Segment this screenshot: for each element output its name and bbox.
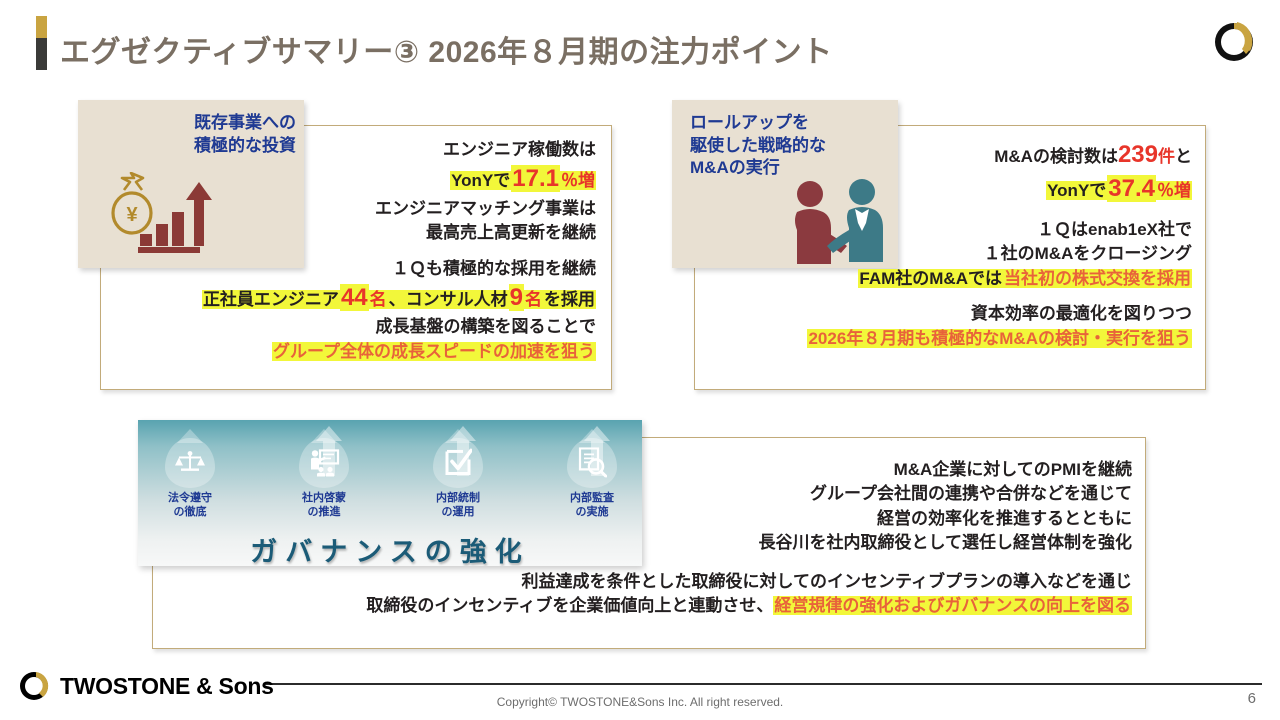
text-run: １Ｑも積極的な採用を継続 [392, 259, 596, 278]
text-line: 経営の効率化を推進するとともに [660, 507, 1132, 531]
text-run: 資本効率の最適化を図りつつ [971, 304, 1192, 323]
governance-right-text: M&A企業に対してのPMIを継続グループ会社間の連携や合併などを通じて経営の効率… [660, 458, 1132, 555]
text-run: と [1175, 147, 1192, 166]
text-line: １社のM&Aをクロージング [736, 242, 1192, 266]
text-run: 最高売上高更新を継続 [426, 223, 596, 242]
pillar-label-2: 内部統制 の運用 [413, 492, 503, 520]
pillar-label-1: 社内啓蒙 の推進 [279, 492, 369, 520]
text-line: 長谷川を社内取締役として選任し経営体制を強化 [660, 531, 1132, 555]
governance-headline: ガバナンスの強化 [138, 530, 642, 566]
text-run: 経営の効率化を推進するとともに [877, 509, 1132, 528]
ma-execution-text: M&Aの検討数は239件とYonYで37.4％増 １Ｑはenab1eX社で１社の… [736, 138, 1192, 351]
text-run: M&A企業に対してのPMIを継続 [894, 460, 1132, 479]
text-run: 17.1 [511, 165, 560, 192]
text-run: 経営規律の強化およびガバナンスの向上を図る [773, 596, 1132, 615]
text-line: FAM社のM&Aでは当社初の株式交換を採用 [736, 267, 1192, 291]
text-run: ％増 [560, 171, 596, 190]
text-line: M&A企業に対してのPMIを継続 [660, 458, 1132, 482]
governance-bottom-text: 利益達成を条件とした取締役に対してのインセンティブプランの導入などを通じ取締役の… [180, 570, 1132, 619]
text-run: 当社初の株式交換を採用 [1003, 269, 1192, 288]
text-line: M&Aの検討数は239件と [736, 138, 1192, 172]
text-run: を採用 [543, 290, 596, 309]
text-run: 長谷川を社内取締役として選任し経営体制を強化 [759, 533, 1133, 552]
text-line: グループ全体の成長スピードの加速を狙う [140, 340, 596, 364]
pillar-label-3: 内部監査 の実施 [547, 492, 637, 520]
text-line: 資本効率の最適化を図りつつ [736, 302, 1192, 326]
text-run: １Ｑはenab1eX社で [1037, 220, 1192, 239]
text-line: １Ｑはenab1eX社で [736, 218, 1192, 242]
text-run: ％増 [1156, 181, 1192, 200]
text-run: 44 [340, 284, 369, 311]
text-run: エンジニア稼働数は [443, 140, 596, 159]
text-run: グループ全体の成長スピードの加速を狙う [272, 342, 596, 361]
up-arrow-icon-2 [584, 426, 610, 476]
text-run: 利益達成を条件とした取締役に対してのインセンティブプランの導入などを通じ [522, 572, 1132, 591]
text-line: 成長基盤の構築を図ることで [140, 315, 596, 339]
svg-text:¥: ¥ [126, 204, 138, 226]
title-accent-gold [36, 16, 47, 38]
text-line: 最高売上高更新を継続 [140, 221, 596, 245]
text-run: FAM社のM&Aでは [858, 269, 1003, 288]
text-run: グループ会社間の連携や合併などを通じて [810, 484, 1132, 503]
text-run: 取締役のインセンティブを企業価値向上と連動させ、 [366, 596, 773, 615]
text-line: グループ会社間の連携や合併などを通じて [660, 482, 1132, 506]
text-run: YonYで [450, 171, 511, 190]
text-line: 正社員エンジニア44名、コンサル人材9名を採用 [140, 281, 596, 315]
footer-divider [265, 683, 1262, 685]
pillar-label-0: 法令遵守 の徹底 [145, 492, 235, 520]
governance-panel: 法令遵守 の徹底 社内啓蒙 の推進 内部統制 の運用 内部監査 の実施 ガバナン… [138, 420, 642, 566]
twostone-circle-mark-icon [1210, 18, 1258, 66]
text-run: 2026年８月期も積極的なM&Aの検討・実行を狙う [807, 329, 1192, 348]
title-accent-bar [36, 16, 47, 70]
text-line [736, 207, 1192, 218]
text-line [736, 291, 1192, 302]
text-line: YonYで17.1％増 [140, 162, 596, 196]
text-run: 239 [1118, 141, 1158, 168]
text-run: １社のM&Aをクロージング [984, 244, 1192, 263]
existing-business-text: エンジニア稼働数はYonYで17.1％増エンジニアマッチング事業は最高売上高更新… [140, 138, 596, 364]
text-run: 名 [524, 290, 543, 309]
text-line: YonYで37.4％増 [736, 172, 1192, 206]
text-run: M&Aの検討数は [994, 147, 1118, 166]
text-line: エンジニア稼働数は [140, 138, 596, 162]
page-title: エグゼクティブサマリー③ 2026年８月期の注力ポイント [60, 27, 833, 71]
page-number: 6 [1248, 690, 1256, 707]
text-line: １Ｑも積極的な採用を継続 [140, 257, 596, 281]
text-line [140, 245, 596, 256]
up-arrow-icon-0 [316, 426, 342, 476]
slide-root: エグゼクティブサマリー③ 2026年８月期の注力ポイント 既存事業への 積極的な… [0, 0, 1280, 720]
text-line: 2026年８月期も積極的なM&Aの検討・実行を狙う [736, 327, 1192, 351]
text-line: 取締役のインセンティブを企業価値向上と連動させ、経営規律の強化およびガバナンスの… [180, 594, 1132, 618]
text-run: 37.4 [1107, 175, 1156, 202]
text-run: 、コンサル人材 [388, 290, 509, 309]
text-run: 正社員エンジニア [202, 290, 340, 309]
text-run: 9 [509, 284, 524, 311]
copyright-text: Copyright© TWOSTONE&Sons Inc. All right … [0, 695, 1280, 709]
text-run: 件 [1158, 147, 1175, 166]
up-arrow-icon-1 [450, 426, 476, 476]
text-run: 名 [369, 290, 388, 309]
text-line: 利益達成を条件とした取締役に対してのインセンティブプランの導入などを通じ [180, 570, 1132, 594]
pillar-icon-0 [165, 438, 215, 488]
text-line: エンジニアマッチング事業は [140, 197, 596, 221]
text-run: YonYで [1046, 181, 1107, 200]
text-run: エンジニアマッチング事業は [375, 199, 596, 218]
text-run: 成長基盤の構築を図ることで [376, 317, 597, 336]
title-accent-dark [36, 38, 47, 70]
